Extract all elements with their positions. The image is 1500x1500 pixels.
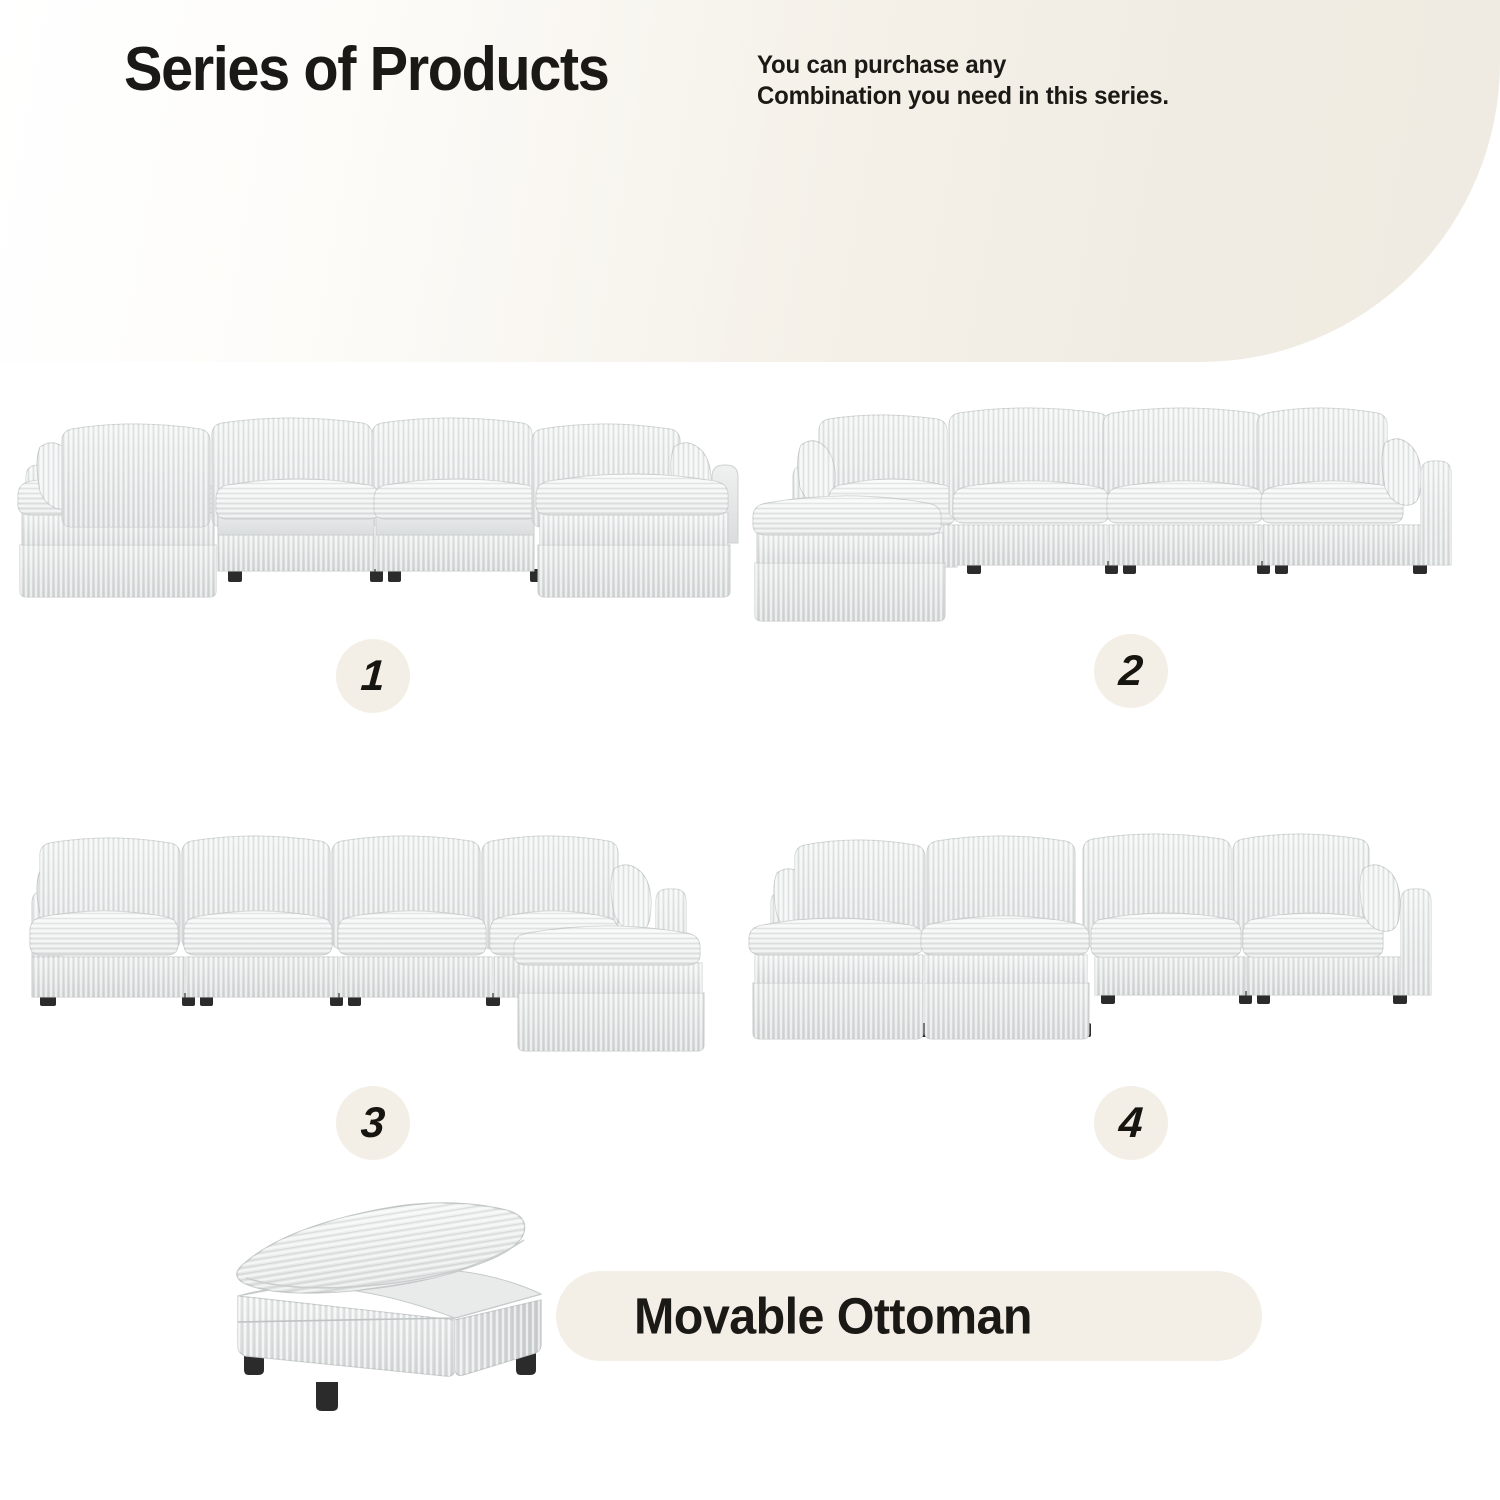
left-double-ottoman-module — [749, 916, 1089, 1039]
movable-ottoman-label: Movable Ottoman — [634, 1287, 1032, 1346]
configuration-badge-4: 4 — [1094, 1086, 1168, 1160]
left-ottoman-module — [753, 496, 945, 621]
right-ottoman-module — [536, 474, 730, 597]
header-subtitle: You can purchase any Combination you nee… — [757, 50, 1169, 112]
subtitle-line-1: You can purchase any — [757, 51, 1006, 79]
configuration-badge-3: 3 — [336, 1086, 410, 1160]
sofa-illustration-4 — [745, 815, 1475, 1060]
page-title: Series of Products — [124, 36, 608, 104]
configuration-badge-3-label: 3 — [360, 1102, 387, 1145]
configuration-2[interactable] — [745, 385, 1475, 630]
configuration-badge-4-label: 4 — [1118, 1102, 1145, 1145]
infographic-page: Series of Products You can purchase any … — [0, 0, 1500, 1500]
configuration-badge-2-label: 2 — [1118, 650, 1145, 693]
configuration-4[interactable] — [745, 815, 1475, 1060]
configuration-badge-2: 2 — [1094, 634, 1168, 708]
configuration-3[interactable] — [10, 815, 740, 1060]
configuration-badge-1: 1 — [336, 639, 410, 713]
sofa-illustration-3 — [10, 815, 740, 1060]
movable-ottoman-banner: Movable Ottoman — [556, 1271, 1262, 1361]
right-ottoman-module — [514, 926, 704, 1051]
movable-ottoman-illustration — [196, 1186, 596, 1426]
header-text-block: Series of Products You can purchase any … — [0, 0, 1500, 160]
sofa-illustration-1 — [10, 385, 740, 620]
subtitle-line-2: Combination you need in this series. — [757, 81, 1169, 112]
configuration-badge-1-label: 1 — [360, 655, 387, 698]
seat-modules — [949, 408, 1425, 565]
configuration-1[interactable] — [10, 385, 740, 620]
sofa-illustration-2 — [745, 385, 1475, 630]
middle-seat-modules — [212, 418, 538, 571]
header-banner: Series of Products You can purchase any … — [0, 0, 1500, 362]
